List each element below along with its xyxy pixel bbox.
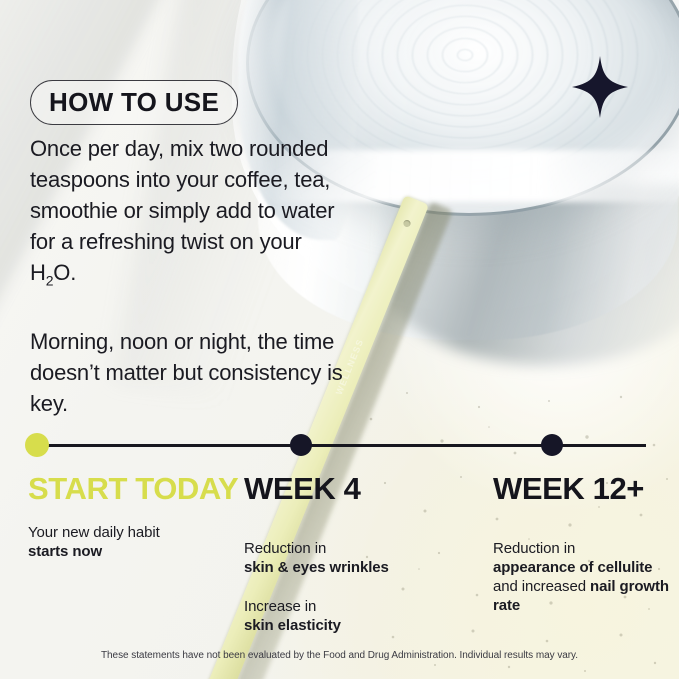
- instructions-copy: Once per day, mix two rounded teaspoons …: [30, 133, 350, 419]
- how-to-use-infographic: WELLNESS HOW TO USE Once per: [0, 0, 679, 679]
- instructions-paragraph-1: Once per day, mix two rounded teaspoons …: [30, 133, 350, 296]
- timeline-dot-week-12-plus: [541, 434, 563, 456]
- how-to-use-badge-label: HOW TO USE: [49, 89, 219, 115]
- timeline-benefit-block: Reduction in skin & eyes wrinkles: [244, 539, 469, 577]
- benefit-lead: Reduction in: [493, 540, 575, 557]
- timeline-benefit-block: Increase in skin elasticity: [244, 597, 469, 635]
- timeline-dot-week-4: [290, 434, 312, 456]
- fda-disclaimer: These statements have not been evaluated…: [0, 650, 679, 661]
- benefit-emphasis: starts now: [28, 542, 243, 561]
- timeline-column-week-4: WEEK 4 Reduction in skin & eyes wrinkles…: [244, 472, 469, 635]
- benefit-lead-secondary: and increased: [493, 578, 590, 595]
- benefit-lead: Reduction in: [244, 540, 326, 557]
- benefit-emphasis: appearance of cellulite: [493, 558, 679, 577]
- timeline-dot-start-today: [25, 433, 49, 457]
- benefit-lead: Increase in: [244, 598, 316, 615]
- timeline-benefit-block: Your new daily habit starts now: [28, 523, 243, 561]
- timeline-column-start-today: START TODAY Your new daily habit starts …: [28, 472, 243, 561]
- timeline-heading-start-today: START TODAY: [28, 472, 243, 505]
- instructions-paragraph-2: Morning, noon or night, the time doesn’t…: [30, 326, 350, 419]
- benefit-emphasis: skin & eyes wrinkles: [244, 558, 469, 577]
- benefit-lead: Your new daily habit: [28, 524, 160, 541]
- content-layer: HOW TO USE Once per day, mix two rounded…: [0, 0, 679, 679]
- timeline-benefit-block: Reduction in appearance of cellulite and…: [493, 539, 679, 615]
- how-to-use-badge: HOW TO USE: [30, 80, 238, 125]
- timeline-heading-week-4: WEEK 4: [244, 472, 469, 505]
- timeline-column-week-12-plus: WEEK 12+ Reduction in appearance of cell…: [493, 472, 679, 615]
- instructions-paragraph-1-tail: O.: [53, 260, 76, 285]
- benefit-emphasis: skin elasticity: [244, 616, 469, 635]
- timeline-heading-week-12-plus: WEEK 12+: [493, 472, 679, 505]
